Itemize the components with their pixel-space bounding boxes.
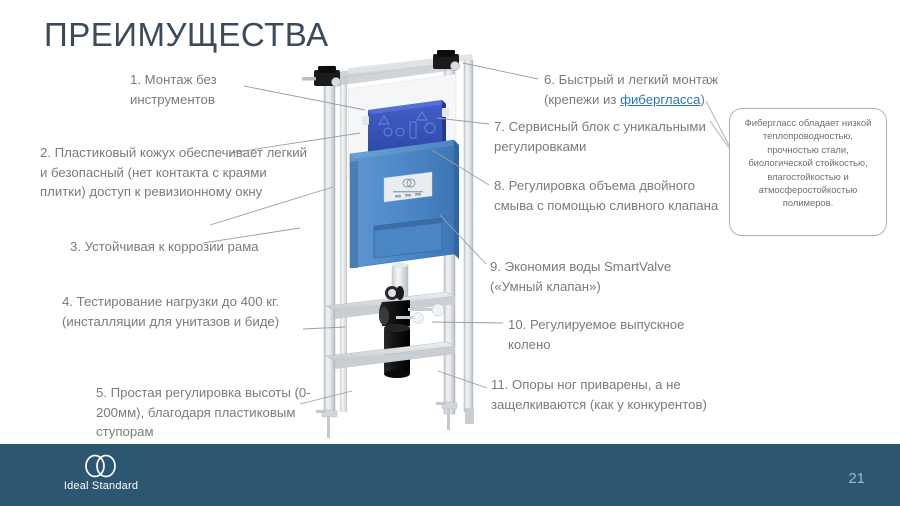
fiberglass-tooltip: Фибергласс обладает низкой теплопроводно…	[729, 108, 887, 236]
callout-6-suffix: )	[700, 92, 704, 107]
callout-7-service-block: 7. Сервисный блок с уникальными регулиро…	[494, 117, 724, 156]
callout-3-corrosion-resistant-frame: 3. Устойчивая к коррозии рама	[70, 237, 260, 257]
page-number: 21	[848, 470, 865, 487]
callout-6-fast-easy-mounting: 6. Быстрый и легкий монтаж (крепежи из ф…	[544, 70, 774, 109]
two-interlocking-circles-logo-icon	[81, 453, 121, 479]
brand-logo: Ideal Standard	[46, 453, 156, 492]
fiberglass-link[interactable]: фибергласса	[620, 92, 700, 107]
callout-1-tool-free-mounting: 1. Монтаж без инструментов	[130, 70, 305, 109]
brand-name: Ideal Standard	[46, 480, 156, 492]
callout-4-load-testing: 4. Тестирование нагрузки до 400 кг. (инс…	[62, 292, 302, 331]
slide-footer: Ideal Standard 21	[0, 444, 900, 506]
callout-5-height-adjustment: 5. Простая регулировка высоты (0-200мм),…	[96, 383, 346, 442]
callout-2-plastic-casing: 2. Пластиковый кожух обеспечивает легкий…	[40, 143, 315, 202]
callout-10-adjustable-outlet-elbow: 10. Регулируемое выпускное колено	[508, 315, 723, 354]
slide-canvas: ПРЕИМУЩЕСТВА	[0, 0, 900, 506]
page-title: ПРЕИМУЩЕСТВА	[44, 16, 329, 54]
callout-9-smartvalve-water-saving: 9. Экономия воды SmartValve («Умный клап…	[490, 257, 710, 296]
callout-11-welded-leg-supports: 11. Опоры ног приварены, а не защелкиваю…	[491, 375, 721, 414]
callout-8-dual-flush-volume: 8. Регулировка объема двойного смыва с п…	[494, 176, 719, 215]
